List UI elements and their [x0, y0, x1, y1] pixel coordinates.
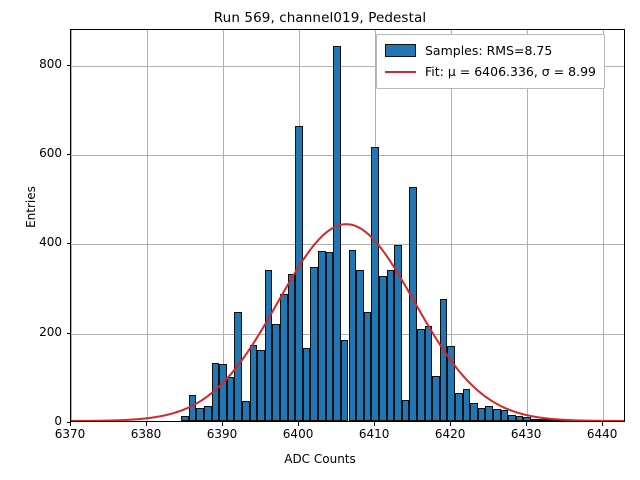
x-tick-label: 6390 [192, 427, 252, 441]
x-tick-label: 6380 [116, 427, 176, 441]
x-axis-label: ADC Counts [0, 452, 640, 466]
x-tick-label: 6420 [420, 427, 480, 441]
y-axis-label: Entries [24, 157, 38, 257]
legend-label-samples: Samples: RMS=8.75 [425, 43, 552, 58]
gaussian-fit-curve [71, 224, 624, 421]
x-tick-label: 6370 [40, 427, 100, 441]
chart-title: Run 569, channel019, Pedestal [0, 10, 640, 26]
x-tick-label: 6410 [344, 427, 404, 441]
x-tick [526, 422, 527, 426]
x-tick [450, 422, 451, 426]
y-tick [67, 65, 71, 66]
x-tick [146, 422, 147, 426]
line-swatch-icon [385, 71, 416, 73]
x-tick-label: 6440 [572, 427, 632, 441]
y-tick [67, 333, 71, 334]
x-tick [70, 422, 71, 426]
figure: Run 569, channel019, Pedestal 6370638063… [0, 0, 640, 480]
y-tick [67, 243, 71, 244]
x-tick [298, 422, 299, 426]
y-tick [67, 422, 71, 423]
x-tick [602, 422, 603, 426]
bar-swatch-icon [385, 44, 416, 57]
legend-label-fit: Fit: μ = 6406.336, σ = 8.99 [425, 64, 596, 79]
legend-entry-samples: Samples: RMS=8.75 [385, 40, 596, 61]
legend: Samples: RMS=8.75 Fit: μ = 6406.336, σ =… [376, 34, 605, 89]
x-tick-label: 6430 [496, 427, 556, 441]
legend-entry-fit: Fit: μ = 6406.336, σ = 8.99 [385, 61, 596, 82]
x-tick-label: 6400 [268, 427, 328, 441]
x-tick [374, 422, 375, 426]
y-tick-label: 0 [0, 414, 62, 428]
y-tick [67, 154, 71, 155]
y-tick-label: 200 [0, 325, 62, 339]
x-tick [222, 422, 223, 426]
y-tick-label: 800 [0, 57, 62, 71]
